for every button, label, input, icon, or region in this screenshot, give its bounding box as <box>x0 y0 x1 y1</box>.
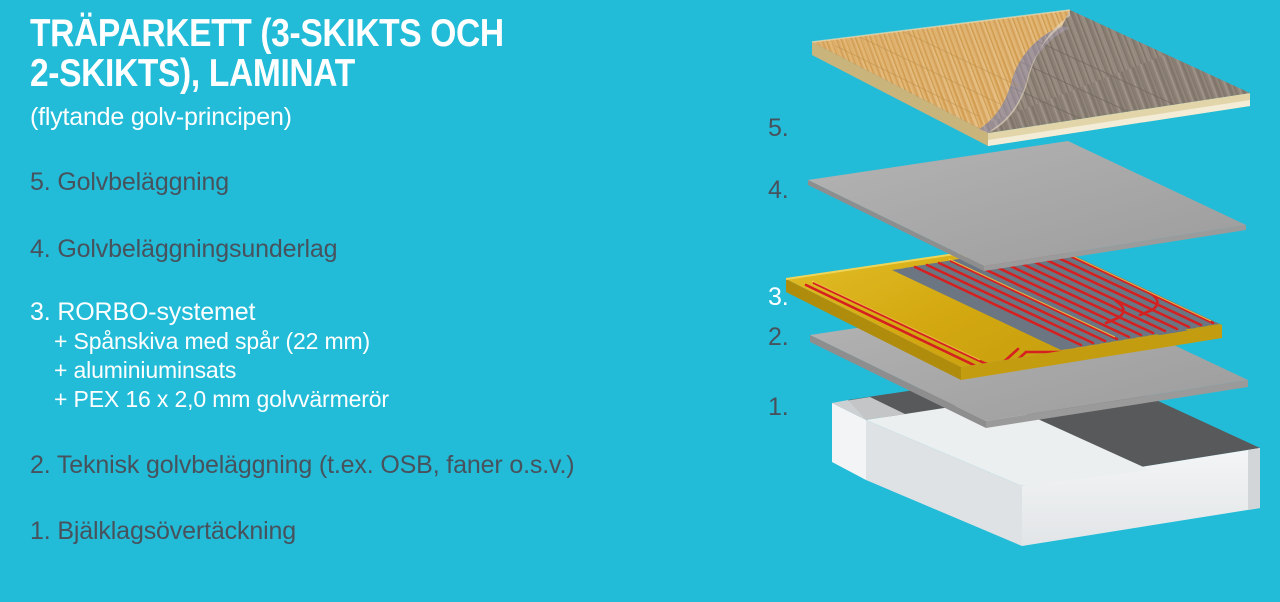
layer-5-floor-covering <box>812 10 1250 146</box>
layer-stack-illustration <box>750 0 1280 602</box>
legend-item-5: 5. Golvbeläggning <box>30 168 229 197</box>
legend-item-4: 4. Golvbeläggningsunderlag <box>30 235 337 264</box>
text-column: TRÄPARKETT (3-SKIKTS OCH 2-SKIKTS), LAMI… <box>30 0 760 602</box>
page-title: TRÄPARKETT (3-SKIKTS OCH 2-SKIKTS), LAMI… <box>30 14 632 94</box>
legend-item-3: 3. RORBO-systemet <box>30 298 255 327</box>
layer-4-underlay <box>808 141 1246 271</box>
exploded-layer-diagram: 5. 4. 3. 2. 1. <box>750 0 1280 602</box>
infographic-canvas: TRÄPARKETT (3-SKIKTS OCH 2-SKIKTS), LAMI… <box>0 0 1280 602</box>
legend-item-2: 2. Teknisk golvbeläggning (t.ex. OSB, fa… <box>30 451 575 480</box>
page-subtitle: (flytande golv-principen) <box>30 103 292 132</box>
legend-item-3-sublist: + Spånskiva med spår (22 mm) + aluminium… <box>30 327 389 414</box>
legend-item-1: 1. Bjälklagsövertäckning <box>30 517 296 546</box>
